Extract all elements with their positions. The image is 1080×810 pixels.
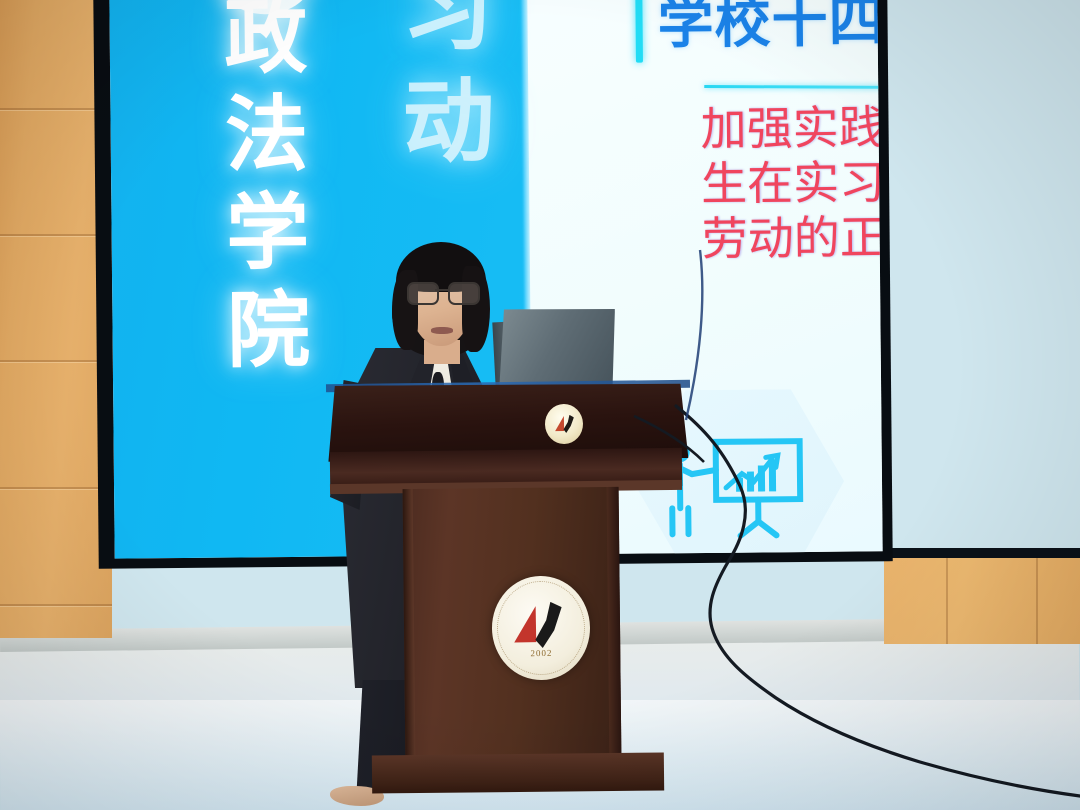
screenshot-root: 习动 政法学院 学校十四五发 加强实践性教 生在实习实践 劳动的正确价 xyxy=(0,0,1080,810)
photo-vignette xyxy=(0,0,1080,810)
